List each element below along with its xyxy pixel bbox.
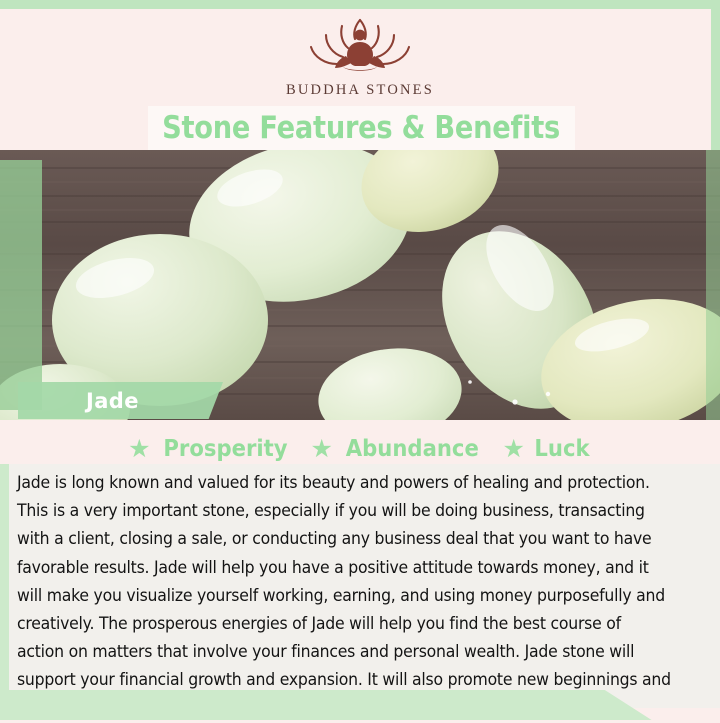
benefit-item: ★ Luck — [503, 436, 592, 462]
star-icon: ★ — [128, 437, 150, 462]
benefit-label: Luck — [534, 436, 589, 462]
top-green-border — [0, 0, 720, 9]
benefit-item: ★ Prosperity — [128, 436, 292, 462]
page-title: Stone Features & Benefits — [163, 110, 561, 146]
title-band: Stone Features & Benefits — [148, 106, 575, 150]
benefit-label: Abundance — [346, 436, 479, 462]
brand-logo: BUDDHA STONES — [0, 14, 720, 109]
infographic-page: BUDDHA STONES Stone Features & Benefits — [0, 0, 720, 720]
lower-section: ★ Prosperity ★ Abundance ★ Luck Jade is … — [0, 420, 720, 720]
benefit-label: Prosperity — [163, 436, 287, 462]
photo-right-accent — [706, 150, 720, 420]
lotus-meditation-icon — [294, 14, 426, 80]
benefits-row: ★ Prosperity ★ Abundance ★ Luck — [0, 432, 720, 466]
description-panel: Jade is long known and valued for its be… — [0, 464, 720, 708]
stone-name-banner: Jade — [18, 382, 223, 419]
star-icon: ★ — [503, 437, 525, 462]
description-text: Jade is long known and valued for its be… — [17, 469, 672, 723]
photo-left-accent — [0, 160, 42, 410]
stone-photo — [0, 150, 720, 420]
stone-name: Jade — [86, 389, 139, 413]
brand-name: BUDDHA STONES — [286, 82, 434, 99]
benefit-item: ★ Abundance — [310, 436, 484, 462]
star-icon: ★ — [310, 437, 332, 462]
